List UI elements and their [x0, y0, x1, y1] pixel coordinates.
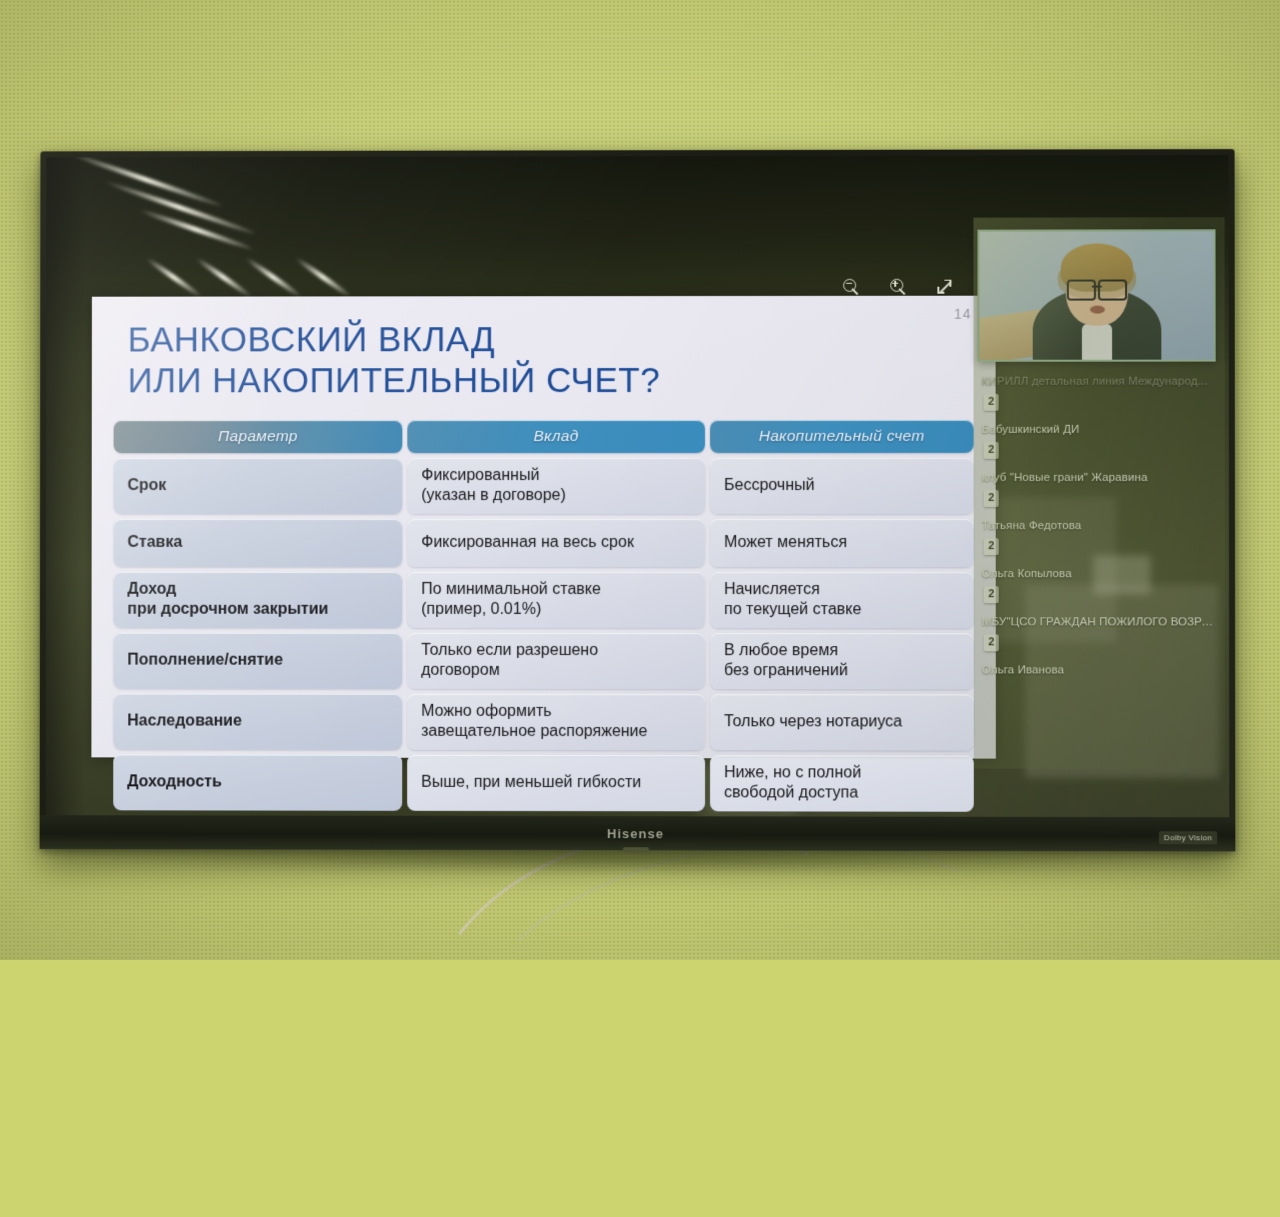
table-row: ДоходностьВыше, при меньшей гибкостиНиже…	[113, 754, 974, 811]
cell-line: В любое время	[724, 641, 848, 661]
zoom-out-icon[interactable]	[843, 278, 860, 295]
table-header-parameter: Параметр	[114, 420, 403, 453]
slide-toolbar	[843, 274, 953, 300]
cell-line: договором	[421, 661, 598, 681]
cell-line: Ниже, но с полной	[724, 763, 861, 783]
cell-line: без ограничений	[724, 661, 848, 681]
cell-line: (указан в договоре)	[421, 486, 566, 506]
cell-parameter: Срок	[114, 458, 403, 514]
table-header-savings: Накопительный счет	[710, 420, 974, 453]
cell-deposit: Выше, при меньшей гибкости	[407, 755, 705, 812]
cell-line: Фиксированный	[421, 466, 566, 486]
cell-parameter: Доходпри досрочном закрытии	[113, 572, 402, 628]
cell-deposit: Только если разрешенодоговором	[407, 633, 705, 689]
cell-savings: В любое времябез ограничений	[710, 633, 974, 689]
fullscreen-icon[interactable]	[936, 278, 953, 295]
cell-line: Фиксированная на весь срок	[421, 533, 634, 553]
cell-line: Пополнение/снятие	[127, 651, 283, 671]
slide-title-line2: ИЛИ НАКОПИТЕЛЬНЫЙ СЧЕТ?	[128, 361, 926, 402]
cell-line: Ставка	[127, 533, 182, 553]
table-row: Доходпри досрочном закрытииПо минимально…	[113, 572, 973, 628]
tv-screen: 14 БАНКОВСКИЙ ВКЛАД ИЛИ НАКОПИТЕЛЬНЫЙ СЧ…	[46, 155, 1230, 845]
cell-savings: Может меняться	[710, 519, 974, 567]
participant-row[interactable]: Татьяна Федотова2	[978, 518, 1219, 564]
table-row: СрокФиксированный(указан в договоре)Бесс…	[114, 458, 974, 514]
tv-chin: Hisense Dolby Vision	[40, 815, 1236, 851]
participant-count-badge: 2	[984, 634, 999, 651]
participant-name: Татьяна Федотова	[978, 518, 1219, 535]
cell-line: Только если разрешено	[421, 641, 598, 661]
table-row: НаследованиеМожно оформитьзавещательное …	[113, 694, 973, 751]
cell-line: завещательное распоряжение	[421, 722, 647, 742]
comparison-table: Параметр Вклад Накопительный счет СрокФи…	[113, 420, 974, 817]
cell-line: Может меняться	[724, 533, 847, 553]
cell-line: По минимальной ставке	[421, 580, 601, 600]
ceiling-light-reflection-top	[66, 170, 484, 275]
table-header-row: Параметр Вклад Накопительный счет	[114, 420, 974, 453]
cell-deposit: Можно оформитьзавещательное распоряжение	[407, 694, 705, 750]
presentation-slide[interactable]: 14 БАНКОВСКИЙ ВКЛАД ИЛИ НАКОПИТЕЛЬНЫЙ СЧ…	[91, 296, 995, 759]
participant-count-badge: 2	[984, 538, 999, 555]
cell-line: Бессрочный	[724, 476, 815, 496]
participants-list[interactable]: КИРИЛЛ детальная линия Международ...2Баб…	[978, 368, 1220, 769]
participant-row[interactable]: МБУ"ЦСО ГРАЖДАН ПОЖИЛОГО ВОЗРАСТА...2	[978, 614, 1219, 660]
slide-number: 14	[954, 306, 972, 322]
cell-parameter: Пополнение/снятие	[113, 633, 402, 689]
slide-title-line1: БАНКОВСКИЙ ВКЛАД	[128, 320, 926, 362]
table-header-deposit: Вклад	[407, 420, 705, 453]
participant-count-badge: 2	[984, 442, 999, 459]
cell-savings: Ниже, но с полнойсвободой доступа	[710, 755, 974, 812]
participant-row[interactable]: КИРИЛЛ детальная линия Международ...2	[978, 374, 1219, 420]
participant-count-badge: 2	[984, 586, 999, 603]
table-row: СтавкаФиксированная на весь срокМожет ме…	[113, 519, 973, 567]
dolby-vision-badge: Dolby Vision	[1159, 831, 1217, 844]
participant-count-badge: 2	[984, 490, 999, 507]
cell-line: Наследование	[127, 711, 242, 731]
cell-line: Только через нотариуса	[724, 712, 902, 732]
cell-line: Срок	[127, 476, 166, 496]
participant-name: МБУ"ЦСО ГРАЖДАН ПОЖИЛОГО ВОЗРАСТА...	[978, 614, 1219, 631]
cell-savings: Бессрочный	[710, 458, 974, 514]
participant-name: Ольга Иванова	[978, 662, 1219, 679]
cell-line: Доход	[127, 580, 328, 600]
participant-row[interactable]: клуб "Новые грани" Жаравина2	[978, 470, 1219, 516]
cell-parameter: Доходность	[113, 754, 402, 810]
cell-parameter: Ставка	[113, 519, 402, 567]
television: 14 БАНКОВСКИЙ ВКЛАД ИЛИ НАКОПИТЕЛЬНЫЙ СЧ…	[40, 149, 1236, 851]
participant-row[interactable]: Ольга Иванова	[978, 662, 1219, 679]
participant-name: Ольга Копылова	[978, 566, 1219, 583]
slide-title: БАНКОВСКИЙ ВКЛАД ИЛИ НАКОПИТЕЛЬНЫЙ СЧЕТ?	[128, 320, 926, 402]
cell-deposit: Фиксированный(указан в договоре)	[407, 458, 705, 514]
participant-row[interactable]: Ольга Копылова2	[978, 566, 1219, 612]
table-row: Пополнение/снятиеТолько если разрешенодо…	[113, 633, 973, 690]
participant-count-badge: 2	[984, 394, 999, 411]
speaker-video-tile[interactable]	[977, 229, 1215, 361]
tv-status-led	[622, 847, 648, 852]
tv-bezel: 14 БАНКОВСКИЙ ВКЛАД ИЛИ НАКОПИТЕЛЬНЫЙ СЧ…	[40, 149, 1236, 851]
cell-savings: Только через нотариуса	[710, 694, 974, 750]
cell-line: Доходность	[127, 772, 222, 792]
cell-line: Можно оформить	[421, 702, 647, 722]
participant-name: клуб "Новые грани" Жаравина	[978, 470, 1219, 487]
cell-deposit: Фиксированная на весь срок	[407, 519, 705, 567]
participant-name: Бабушкинский ДИ	[978, 422, 1219, 439]
cell-line: свободой доступа	[724, 783, 861, 803]
video-tile-glare	[979, 231, 1213, 359]
cell-line: (пример, 0.01%)	[421, 600, 601, 620]
participants-panel: КИРИЛЛ детальная линия Международ...2Баб…	[973, 217, 1225, 769]
tv-brand-label: Hisense	[607, 826, 664, 841]
participant-row[interactable]: Бабушкинский ДИ2	[978, 422, 1219, 468]
cell-parameter: Наследование	[113, 694, 402, 750]
cell-deposit: По минимальной ставке(пример, 0.01%)	[407, 572, 705, 628]
cell-line: при досрочном закрытии	[127, 600, 328, 620]
cell-line: по текущей ставке	[724, 600, 861, 620]
cell-line: Начисляется	[724, 580, 861, 600]
participant-name: КИРИЛЛ детальная линия Международ...	[978, 374, 1219, 391]
cell-line: Выше, при меньшей гибкости	[421, 773, 641, 793]
cell-savings: Начисляетсяпо текущей ставке	[710, 572, 974, 628]
zoom-in-icon[interactable]	[890, 278, 907, 295]
